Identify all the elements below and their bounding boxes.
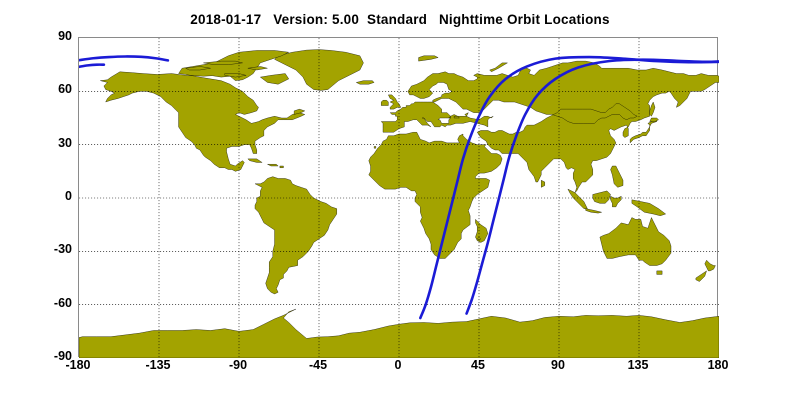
land-polygon	[650, 118, 659, 122]
land-polygon	[568, 189, 588, 209]
land-polygon	[275, 50, 364, 91]
land-polygon	[419, 56, 439, 61]
land-polygon	[260, 74, 288, 85]
land-polygon	[650, 102, 655, 116]
land-polygon	[630, 120, 657, 143]
y-tick-label: -60	[26, 296, 72, 310]
land-polygon	[593, 191, 611, 203]
chart-title: 2018-01-17 Version: 5.00 Standard Nightt…	[0, 12, 800, 27]
x-tick-label: 0	[368, 358, 428, 372]
y-tick-label: 30	[26, 136, 72, 150]
orbit-track	[79, 56, 168, 60]
orbit-locations-figure: 2018-01-17 Version: 5.00 Standard Nightt…	[0, 0, 800, 400]
land-polygon	[541, 180, 545, 187]
land-polygon	[600, 218, 671, 266]
map-svg	[79, 38, 719, 358]
x-axis: -180-135-90-4504590135180	[78, 358, 718, 380]
land-polygon	[267, 164, 278, 166]
x-tick-label: -90	[208, 358, 268, 372]
land-polygon	[657, 271, 662, 275]
x-tick-label: -135	[128, 358, 188, 372]
x-tick-label: -45	[288, 358, 348, 372]
y-tick-label: 90	[26, 29, 72, 43]
x-tick-label: -180	[48, 358, 108, 372]
land-polygon	[490, 63, 508, 72]
x-tick-label: 45	[448, 358, 508, 372]
land-polygon	[248, 159, 262, 163]
land-polygon	[280, 166, 284, 168]
x-tick-label: 180	[688, 358, 748, 372]
y-tick-label: 60	[26, 82, 72, 96]
land-polygon	[374, 146, 376, 148]
y-tick-label: -30	[26, 242, 72, 256]
land-polygon	[586, 209, 602, 213]
y-tick-label: 0	[26, 189, 72, 203]
land-polygon	[632, 200, 666, 216]
land-polygon	[356, 81, 374, 85]
land-polygon	[696, 271, 707, 282]
x-tick-label: 90	[528, 358, 588, 372]
land-polygon	[255, 177, 337, 294]
y-axis: 9060300-30-60-90	[22, 37, 72, 357]
orbit-track	[79, 65, 104, 67]
land-polygon	[611, 166, 623, 187]
land-polygon	[705, 260, 716, 271]
x-tick-label: 135	[608, 358, 668, 372]
map-plot-area	[78, 37, 718, 357]
land-polygon	[381, 100, 388, 105]
